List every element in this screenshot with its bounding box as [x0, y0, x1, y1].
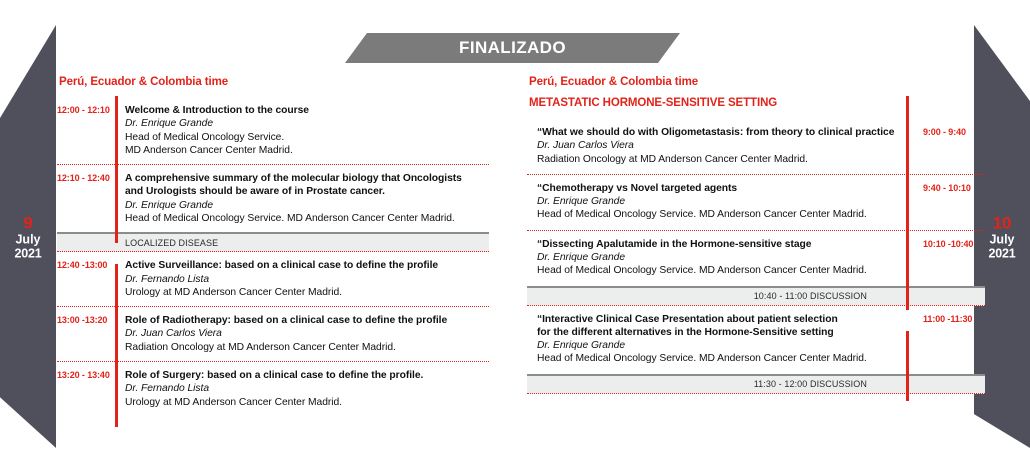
session-body: “Dissecting Apalutamide in the Hormone-s…: [527, 238, 913, 278]
agenda-row[interactable]: 13:00 -13:20 Role of Radiotherapy: based…: [57, 307, 489, 362]
session-title: A comprehensive summary of the molecular…: [125, 172, 489, 185]
date-left-day: 9: [0, 213, 56, 232]
session-speaker: Dr. Juan Carlos Viera: [125, 327, 489, 340]
discussion-label: 10:40 - 11:00 DISCUSSION: [754, 291, 985, 301]
session-title: Role of Surgery: based on a clinical cas…: [125, 369, 489, 382]
agenda-row[interactable]: “Interactive Clinical Case Presentation …: [527, 306, 985, 374]
agenda-row[interactable]: “Dissecting Apalutamide in the Hormone-s…: [527, 231, 985, 286]
session-affiliation: Head of Medical Oncology Service. MD And…: [537, 352, 903, 365]
session-time: 11:00 -11:30: [913, 313, 985, 324]
session-speaker: Dr. Enrique Grande: [537, 195, 903, 208]
discussion-divider: 10:40 - 11:00 DISCUSSION: [527, 286, 985, 306]
agenda-column-day-10: Perú, Ecuador & Colombia time METASTATIC…: [527, 76, 985, 394]
date-left-year: 2021: [0, 246, 56, 260]
agenda-row[interactable]: 12:40 -13:00 Active Surveillance: based …: [57, 252, 489, 307]
session-speaker: Dr. Fernando Lista: [125, 382, 489, 395]
session-affiliation: Head of Medical Oncology Service. MD And…: [125, 212, 489, 225]
date-panel-left: 9 July 2021: [0, 25, 56, 448]
session-body: Active Surveillance: based on a clinical…: [115, 259, 489, 299]
session-speaker: Dr. Enrique Grande: [537, 339, 903, 352]
session-title: and Urologists should be aware of in Pro…: [125, 185, 489, 198]
session-speaker: Dr. Fernando Lista: [125, 273, 489, 286]
agenda-row[interactable]: “Chemotherapy vs Novel targeted agents D…: [527, 175, 985, 231]
date-left-inner: 9 July 2021: [0, 213, 56, 260]
session-body: Role of Radiotherapy: based on a clinica…: [115, 314, 489, 354]
agenda-column-day-9: Perú, Ecuador & Colombia time 12:00 - 12…: [57, 76, 489, 416]
session-time: 12:00 - 12:10: [57, 104, 115, 115]
agenda-row[interactable]: 12:10 - 12:40 A comprehensive summary of…: [57, 165, 489, 232]
session-speaker: Dr. Juan Carlos Viera: [537, 139, 903, 152]
session-time: 13:00 -13:20: [57, 314, 115, 325]
session-affiliation: Radiation Oncology at MD Anderson Cancer…: [125, 341, 489, 354]
session-body: “Interactive Clinical Case Presentation …: [527, 313, 913, 366]
session-body: “Chemotherapy vs Novel targeted agents D…: [527, 182, 913, 222]
session-body: “What we should do with Oligometastasis:…: [527, 126, 913, 166]
session-affiliation: Radiation Oncology at MD Anderson Cancer…: [537, 153, 903, 166]
session-speaker: Dr. Enrique Grande: [125, 199, 489, 212]
session-affiliation: Urology at MD Anderson Cancer Center Mad…: [125, 286, 489, 299]
session-body: Welcome & Introduction to the course Dr.…: [115, 104, 489, 157]
section-divider-label: LOCALIZED DISEASE: [57, 238, 218, 248]
agenda-canvas: 9 July 2021 10 July 2021 FINALIZADO Perú…: [0, 0, 1030, 450]
session-time: 9:40 - 10:10: [913, 182, 985, 193]
session-affiliation: Head of Medical Oncology Service. MD And…: [537, 264, 903, 277]
session-affiliation: MD Anderson Cancer Center Madrid.: [125, 144, 489, 157]
session-time: 9:00 - 9:40: [913, 126, 985, 137]
session-title: for the different alternatives in the Ho…: [537, 326, 903, 339]
agenda-row[interactable]: “What we should do with Oligometastasis:…: [527, 119, 985, 175]
session-title: Active Surveillance: based on a clinical…: [125, 259, 489, 272]
session-affiliation: Head of Medical Oncology Service. MD And…: [537, 208, 903, 221]
timeline-rail-right-upper: [906, 96, 909, 310]
session-body: Role of Surgery: based on a clinical cas…: [115, 369, 489, 409]
session-title: “Dissecting Apalutamide in the Hormone-s…: [537, 238, 903, 251]
session-title: “Chemotherapy vs Novel targeted agents: [537, 182, 903, 195]
agenda-row[interactable]: 12:00 - 12:10 Welcome & Introduction to …: [57, 97, 489, 165]
agenda-row[interactable]: 13:20 - 13:40 Role of Surgery: based on …: [57, 362, 489, 416]
session-time: 12:10 - 12:40: [57, 172, 115, 183]
status-badge: FINALIZADO: [459, 38, 566, 58]
session-affiliation: Urology at MD Anderson Cancer Center Mad…: [125, 396, 489, 409]
right-section-heading: METASTATIC HORMONE-SENSITIVE SETTING: [529, 97, 985, 109]
session-time: 13:20 - 13:40: [57, 369, 115, 380]
session-title: “What we should do with Oligometastasis:…: [537, 126, 903, 139]
date-left-month: July: [0, 232, 56, 246]
timeline-rail-left-lower: [115, 264, 118, 427]
session-title: “Interactive Clinical Case Presentation …: [537, 313, 903, 326]
left-column-heading: Perú, Ecuador & Colombia time: [59, 76, 489, 88]
right-column-heading: Perú, Ecuador & Colombia time: [529, 76, 985, 88]
session-time: 10:10 -10:40: [913, 238, 985, 249]
discussion-divider: 11:30 - 12:00 DISCUSSION: [527, 374, 985, 394]
section-divider-localized-disease: LOCALIZED DISEASE: [57, 232, 489, 252]
session-title: Role of Radiotherapy: based on a clinica…: [125, 314, 489, 327]
session-time: 12:40 -13:00: [57, 259, 115, 270]
discussion-label: 11:30 - 12:00 DISCUSSION: [754, 379, 985, 389]
session-affiliation: Head of Medical Oncology Service.: [125, 131, 489, 144]
session-speaker: Dr. Enrique Grande: [537, 251, 903, 264]
session-title: Welcome & Introduction to the course: [125, 104, 489, 117]
timeline-rail-left-upper: [115, 96, 118, 243]
status-banner: FINALIZADO: [345, 33, 680, 63]
timeline-rail-right-lower: [906, 331, 909, 401]
session-body: A comprehensive summary of the molecular…: [115, 172, 489, 225]
session-speaker: Dr. Enrique Grande: [125, 117, 489, 130]
